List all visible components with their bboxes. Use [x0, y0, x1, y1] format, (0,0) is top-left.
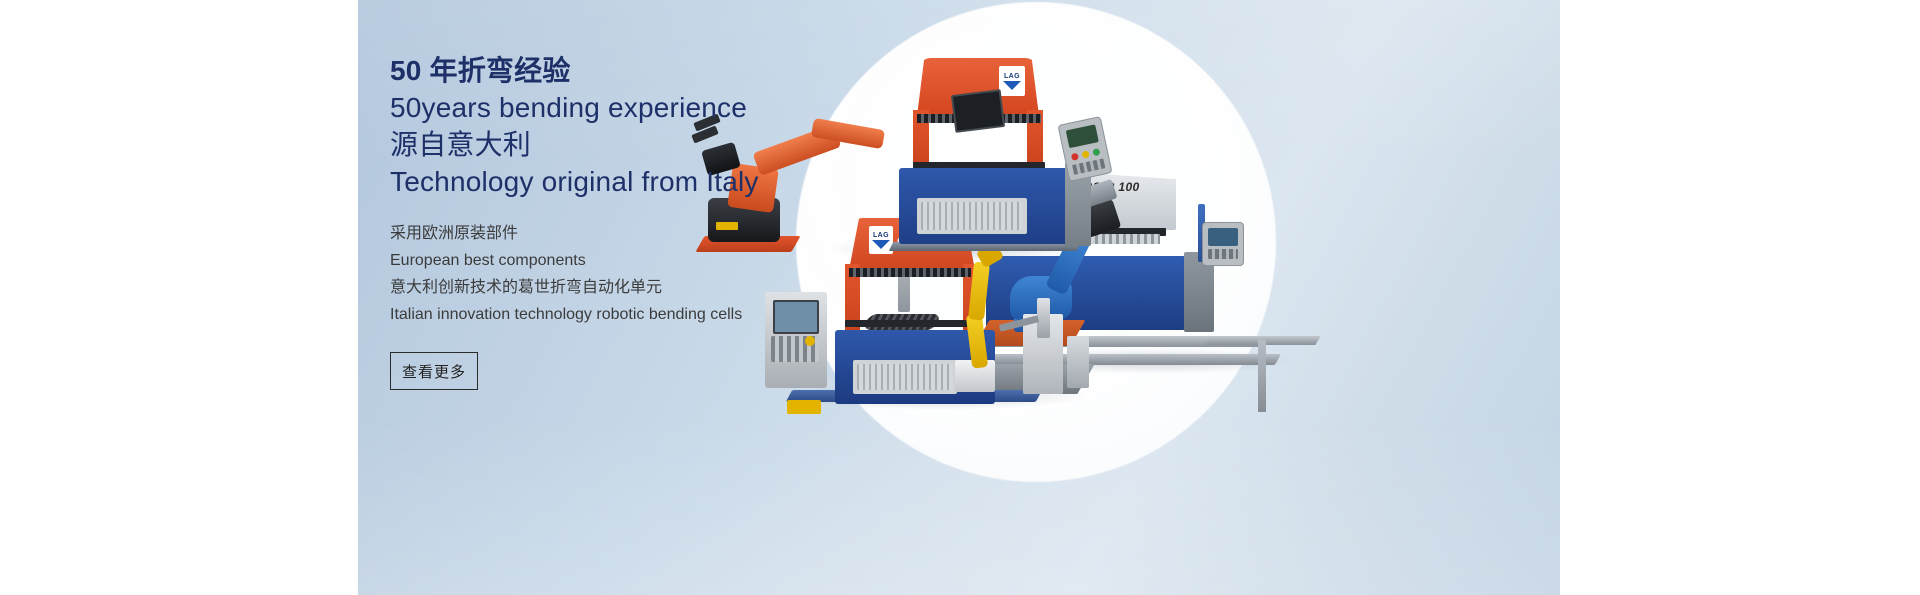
- headline-line-3: 源自意大利: [390, 126, 950, 163]
- subline-3: 意大利创新技术的葛世折弯自动化单元: [390, 274, 950, 301]
- pendant-stop-button-icon: [1071, 153, 1079, 161]
- pendant-warn-button-icon: [1082, 150, 1090, 158]
- view-more-button[interactable]: 查看更多: [390, 352, 478, 390]
- headline-line-1: 50 年折弯经验: [390, 52, 950, 89]
- subline-4: Italian innovation technology robotic be…: [390, 301, 950, 328]
- control-pendant-icon: [1202, 222, 1244, 266]
- machine-display-icon: [951, 89, 1005, 133]
- headline-line-2: 50years bending experience: [390, 89, 950, 126]
- aux-column-icon: [1037, 298, 1050, 338]
- headline-line-4: Technology original from Italy: [390, 163, 950, 200]
- lag-chevron-icon: [1003, 81, 1021, 90]
- pendant-keypad-icon: [1072, 158, 1105, 174]
- aux-station-1-icon: [1023, 314, 1063, 394]
- pendant-screen-icon: [1066, 124, 1099, 148]
- rail-foot-icon: [787, 400, 821, 414]
- hero-text-block: 50 年折弯经验 50years bending experience 源自意大…: [390, 52, 950, 390]
- aux-arm-icon: [999, 315, 1040, 331]
- pendant-start-button-icon: [1092, 148, 1100, 156]
- subline-group: 采用欧洲原装部件 European best components 意大利创新技…: [390, 220, 950, 328]
- subline-1: 采用欧洲原装部件: [390, 220, 950, 247]
- aux-station-2-icon: [1067, 336, 1089, 388]
- pendant-keypad-icon: [1208, 249, 1238, 259]
- headline-group: 50 年折弯经验 50years bending experience 源自意大…: [390, 52, 950, 200]
- lag-logo-text: LAG: [1004, 73, 1020, 80]
- gantry-leg-icon: [1258, 340, 1266, 412]
- lag-logo-icon: LAG: [999, 66, 1025, 96]
- page-stage: LAG GBS-R 100: [0, 0, 1920, 595]
- pendant-screen-icon: [1208, 228, 1238, 246]
- hero-banner: LAG GBS-R 100: [358, 0, 1560, 595]
- subline-2: European best components: [390, 247, 950, 274]
